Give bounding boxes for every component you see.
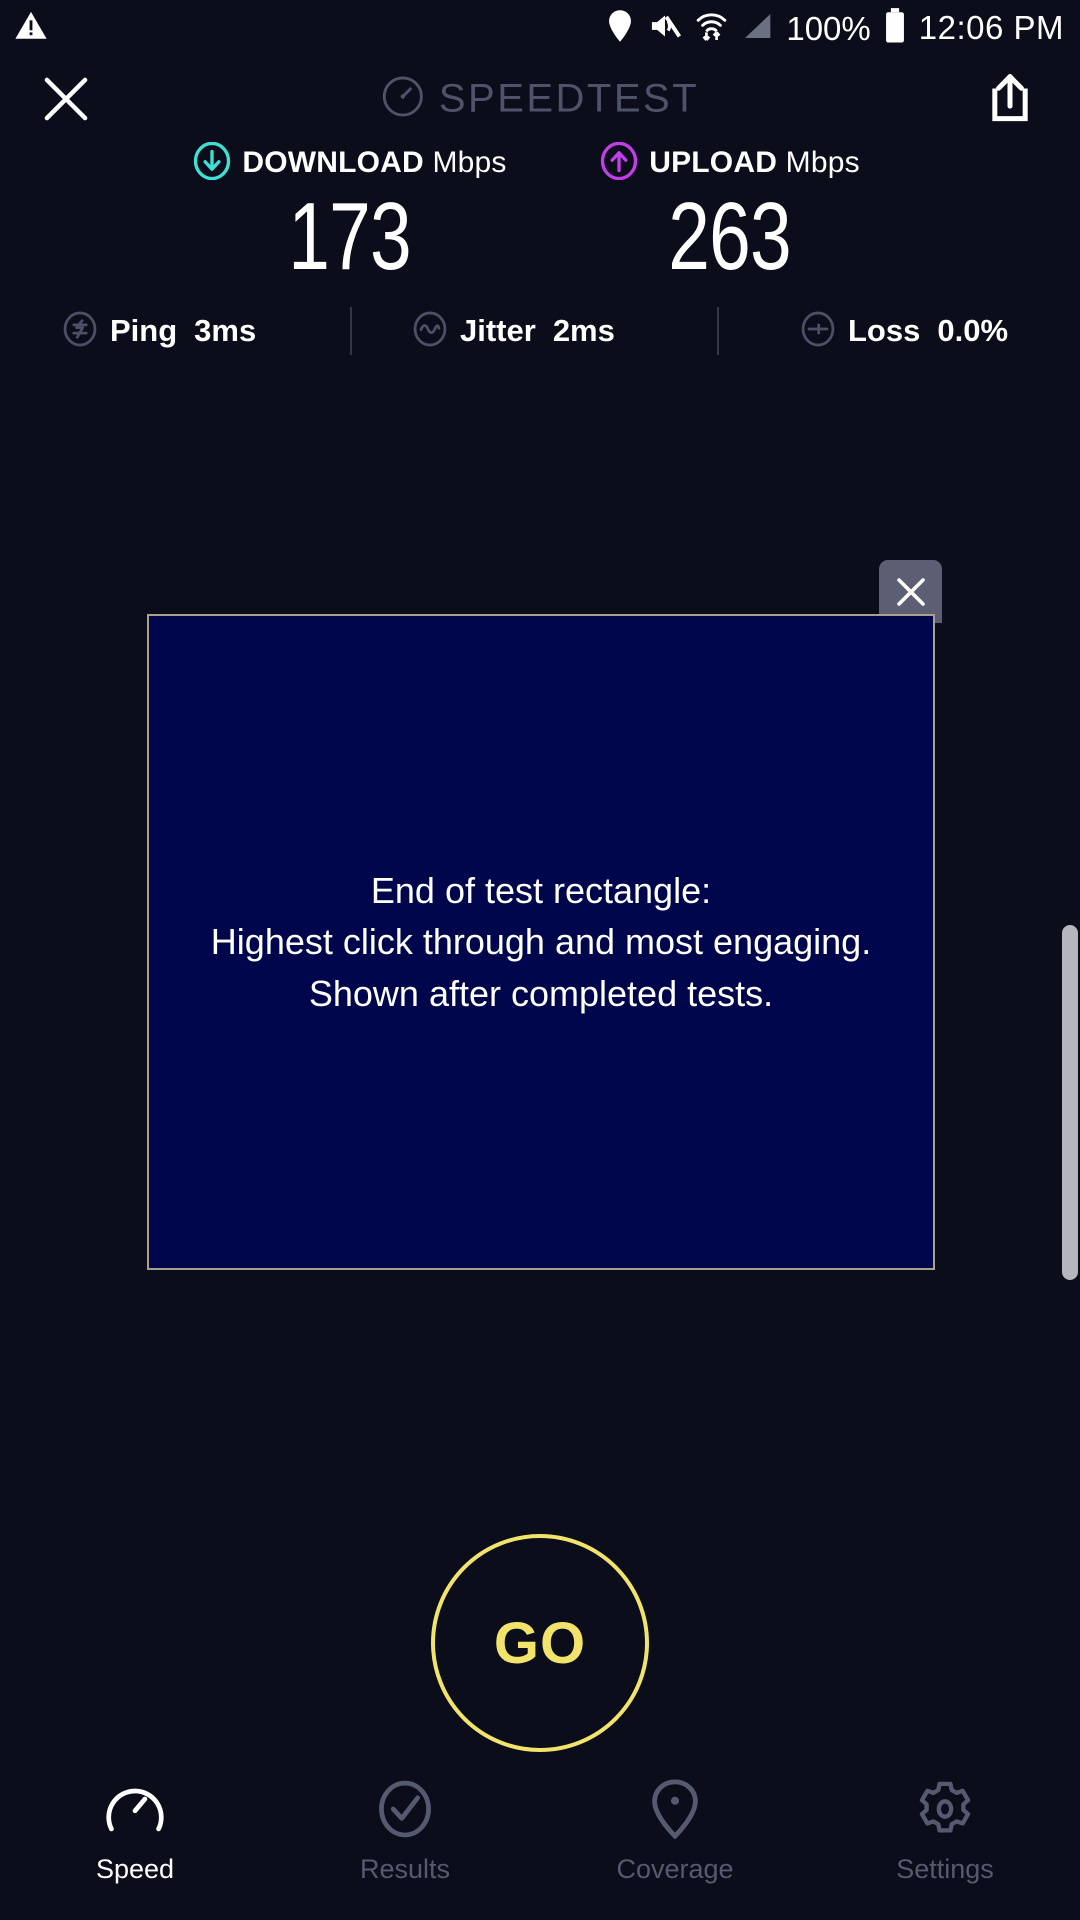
loss-icon xyxy=(800,311,836,352)
close-button[interactable] xyxy=(36,69,96,129)
vertical-scrollbar[interactable] xyxy=(1062,925,1078,1280)
nav-label-settings: Settings xyxy=(896,1854,994,1885)
go-button-label: GO xyxy=(494,1610,586,1677)
jitter-icon xyxy=(412,311,448,352)
metric-ping-value: 3ms xyxy=(194,313,256,349)
speedometer-icon xyxy=(381,75,425,124)
speedtest-app-screen: 100% 12:06 PM SP xyxy=(0,0,1080,1920)
status-bar-right: 100% 12:06 PM xyxy=(605,8,1064,49)
upload-value: 263 xyxy=(669,188,792,286)
nav-label-results: Results xyxy=(360,1854,450,1885)
cell-signal-icon xyxy=(741,11,773,46)
battery-percent-label: 100% xyxy=(786,12,870,45)
metric-loss-value: 0.0% xyxy=(937,313,1008,349)
warning-triangle-icon xyxy=(14,9,48,48)
location-pin-icon xyxy=(605,9,635,48)
share-button[interactable] xyxy=(982,71,1038,127)
battery-full-icon xyxy=(884,8,906,49)
metric-jitter-label: Jitter xyxy=(460,313,536,349)
metric-ping-label: Ping xyxy=(110,313,177,349)
status-bar: 100% 12:06 PM xyxy=(0,0,1080,56)
bottom-navigation: Speed Results Coverage xyxy=(0,1760,1080,1920)
metric-loss-label: Loss xyxy=(848,313,920,349)
nav-label-speed: Speed xyxy=(96,1854,174,1885)
metric-jitter-value: 2ms xyxy=(553,313,615,349)
ad-line-3: Shown after completed tests. xyxy=(211,968,871,1019)
nav-item-speed[interactable]: Speed xyxy=(0,1760,270,1920)
nav-item-settings[interactable]: Settings xyxy=(810,1760,1080,1920)
status-bar-left xyxy=(14,9,48,48)
download-label: DOWNLOAD Mbps xyxy=(242,146,506,180)
app-header: SPEEDTEST xyxy=(0,56,1080,142)
download-result: DOWNLOAD Mbps 173 xyxy=(160,142,540,286)
page-title: SPEEDTEST xyxy=(439,77,699,122)
ping-icon xyxy=(62,311,98,352)
download-arrow-icon xyxy=(193,142,231,185)
ad-line-1: End of test rectangle: xyxy=(211,865,871,916)
close-icon xyxy=(40,73,92,125)
go-button[interactable]: GO xyxy=(431,1534,649,1752)
ad-close-icon xyxy=(893,574,929,610)
upload-label: UPLOAD Mbps xyxy=(649,146,860,180)
map-pin-icon xyxy=(650,1778,700,1840)
ad-line-2: Highest click through and most engaging. xyxy=(211,916,871,967)
upload-result: UPLOAD Mbps 263 xyxy=(540,142,920,286)
app-logo: SPEEDTEST xyxy=(381,75,699,124)
metric-divider-1 xyxy=(350,307,352,355)
advertisement-text: End of test rectangle: Highest click thr… xyxy=(211,865,871,1018)
wifi-transfer-icon xyxy=(695,9,728,48)
check-circle-icon xyxy=(376,1778,434,1840)
advertisement-banner[interactable]: End of test rectangle: Highest click thr… xyxy=(147,614,935,1270)
results-panel: DOWNLOAD Mbps 173 UPLOAD Mbps 263 xyxy=(0,142,1080,286)
share-icon xyxy=(986,74,1034,124)
nav-label-coverage: Coverage xyxy=(616,1854,733,1885)
status-bar-clock: 12:06 PM xyxy=(919,9,1064,47)
metric-ping: Ping 3ms xyxy=(62,311,256,352)
download-value: 173 xyxy=(289,188,412,286)
mute-icon xyxy=(648,10,682,47)
gear-icon xyxy=(915,1778,975,1840)
nav-item-results[interactable]: Results xyxy=(270,1760,540,1920)
nav-item-coverage[interactable]: Coverage xyxy=(540,1760,810,1920)
speedometer-icon xyxy=(104,1778,166,1840)
upload-arrow-icon xyxy=(600,142,638,185)
metric-jitter: Jitter 2ms xyxy=(412,311,615,352)
metric-loss: Loss 0.0% xyxy=(800,311,1008,352)
metric-divider-2 xyxy=(717,307,719,355)
metrics-row: Ping 3ms Jitter 2ms Loss xyxy=(0,300,1080,362)
